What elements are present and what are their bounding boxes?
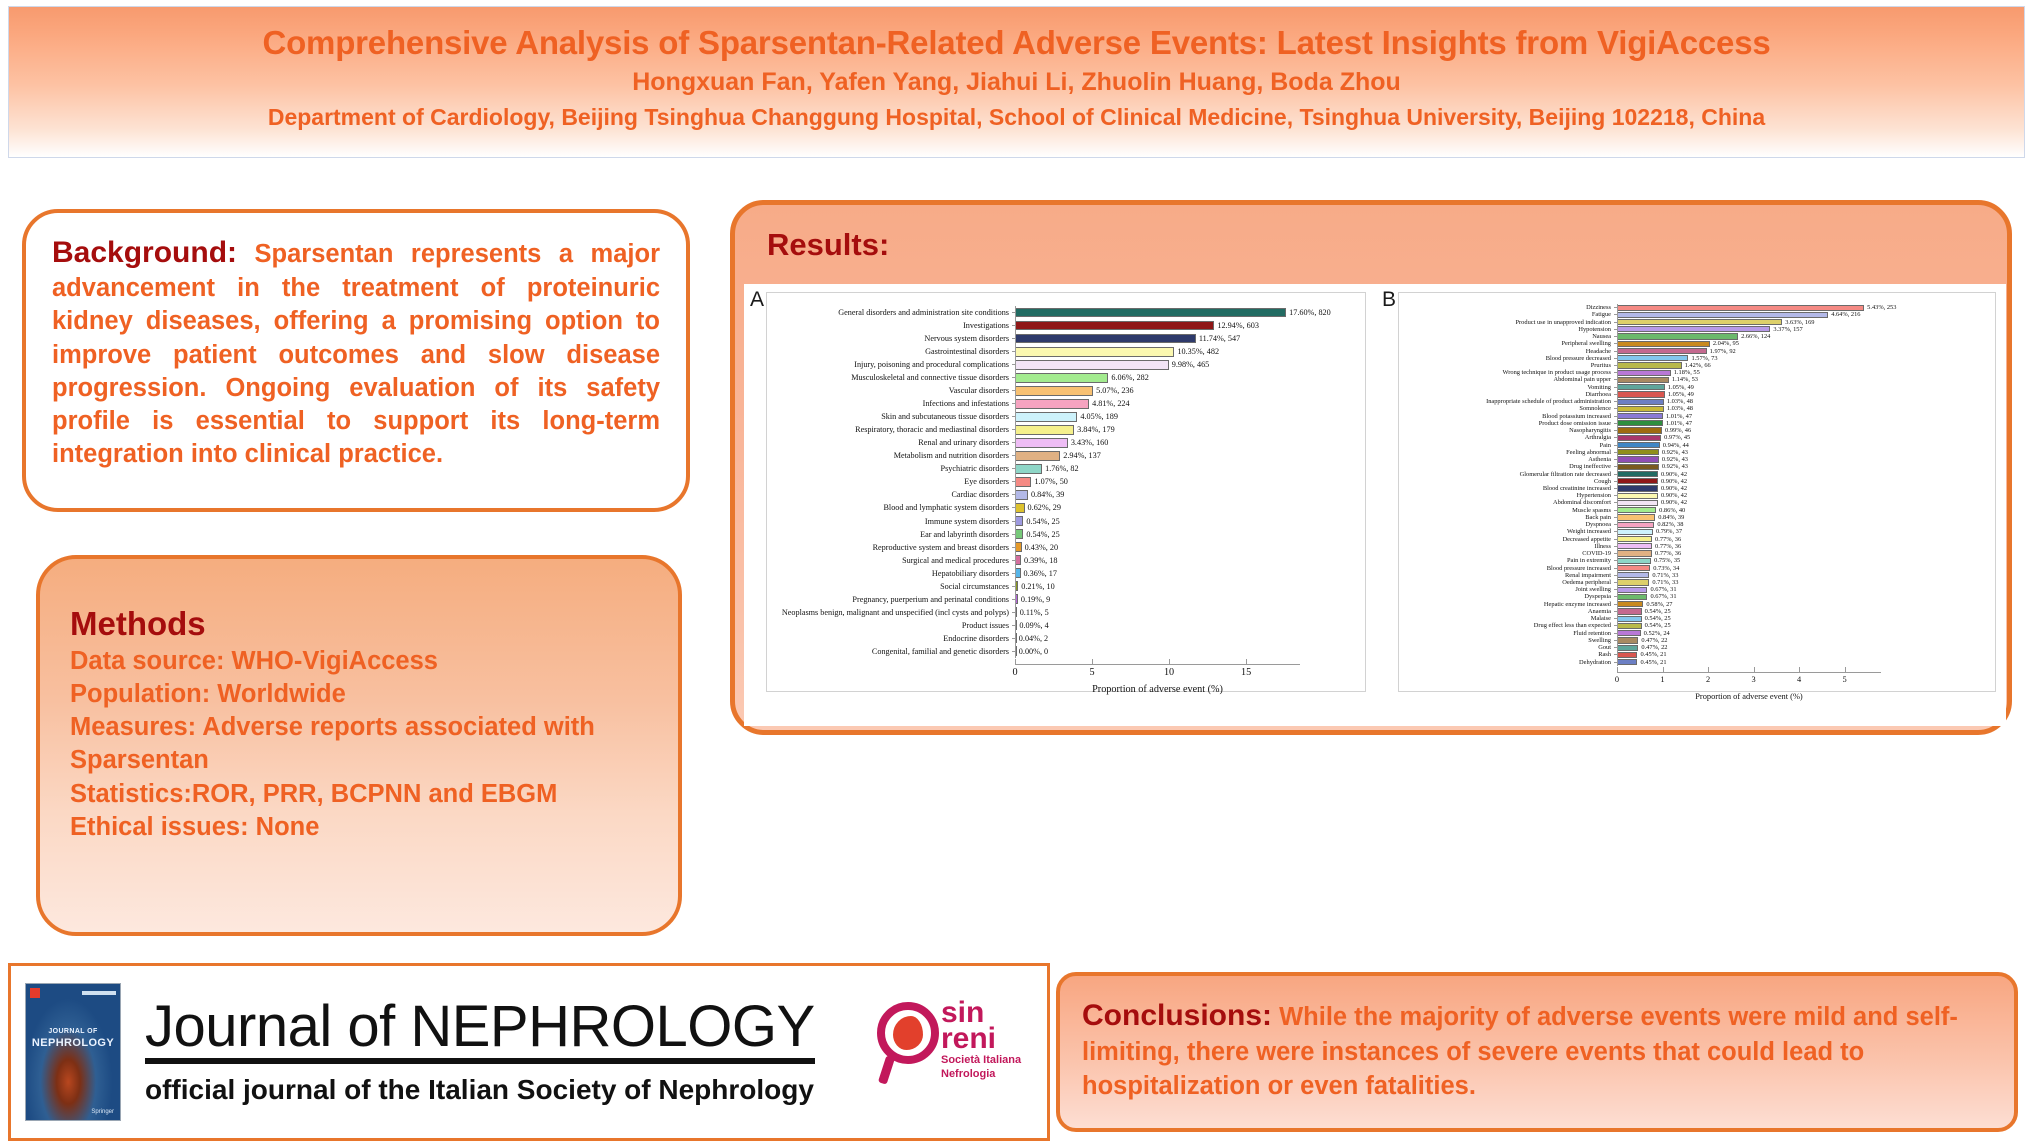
bar-holder <box>1617 579 1649 585</box>
journal-footer: JOURNAL OF NEPHROLOGY Springer Journal o… <box>8 963 1050 1141</box>
bar-category-label: Oedema peripheral <box>1376 579 1614 586</box>
bar-holder <box>1617 514 1655 520</box>
bar-holder <box>1617 623 1642 629</box>
bar-row: Pruritus1.42%, 66 <box>1376 362 2006 369</box>
methods-line: Data source: WHO-VigiAccess <box>70 645 658 678</box>
x-axis-title-b: Proportion of adverse event (%) <box>1617 692 1881 701</box>
x-tick-label: 5 <box>1089 667 1094 678</box>
bar-row: Blood creatinine increased0.90%, 42 <box>1376 485 2006 492</box>
bar-value-label: 17.60%, 820 <box>1286 308 1331 317</box>
methods-line: Sparsentan <box>70 744 658 777</box>
bar-category-label: Infections and infestations <box>744 399 1012 408</box>
bar-value-label: 3.43%, 160 <box>1068 438 1109 447</box>
x-tick-label: 4 <box>1797 675 1801 684</box>
bar-holder <box>1617 550 1652 556</box>
bar-holder <box>1617 362 1682 368</box>
bar-category-label: Illness <box>1376 543 1614 550</box>
bar-category-label: Pain <box>1376 442 1614 449</box>
bar <box>1617 399 1664 405</box>
cover-bar <box>82 991 116 995</box>
x-tick <box>1246 659 1247 664</box>
bar-value-label: 0.43%, 20 <box>1022 543 1058 552</box>
x-tick <box>1617 667 1618 672</box>
bar-category-label: Fluid retention <box>1376 630 1614 637</box>
bar-row: Surgical and medical procedures0.39%, 18 <box>744 554 1376 567</box>
bar-category-label: Wrong technique in product usage process <box>1376 369 1614 376</box>
bar-value-label: 0.45%, 21 <box>1637 651 1666 658</box>
sin-logo-reni: reni <box>941 1024 996 1054</box>
cover-publisher-mark <box>30 988 40 998</box>
bar-holder <box>1617 608 1642 614</box>
bar-row: Blood potassium increased1.01%, 47 <box>1376 413 2006 420</box>
author-list: Hongxuan Fan, Yafen Yang, Jiahui Li, Zhu… <box>632 68 1401 97</box>
bar-row: Renal impairment0.71%, 33 <box>1376 572 2006 579</box>
bar-value-label: 0.45%, 21 <box>1637 659 1666 666</box>
bar-holder <box>1617 391 1665 397</box>
bar <box>1617 522 1654 528</box>
x-tick-label: 5 <box>1842 675 1846 684</box>
bar-holder <box>1015 347 1174 357</box>
bar-value-label: 1.57%, 73 <box>1688 355 1717 362</box>
bar-value-label: 9.98%, 465 <box>1169 360 1210 369</box>
bar <box>1015 438 1068 448</box>
bar-holder <box>1617 377 1669 383</box>
bar-holder <box>1617 456 1659 462</box>
bar <box>1617 659 1637 665</box>
bar-row: Renal and urinary disorders3.43%, 160 <box>744 436 1376 449</box>
bar-holder <box>1617 326 1770 332</box>
bar-value-label: 2.94%, 137 <box>1060 451 1101 460</box>
bar-value-label: 1.76%, 82 <box>1042 464 1078 473</box>
bar-category-label: COVID-19 <box>1376 550 1614 557</box>
bar <box>1015 386 1093 396</box>
bar <box>1015 399 1089 409</box>
bar <box>1617 464 1659 470</box>
bar <box>1015 334 1196 344</box>
x-axis-title-a: Proportion of adverse event (%) <box>1015 684 1300 695</box>
bar-row: Peripheral swelling2.04%, 95 <box>1376 340 2006 347</box>
bar-holder <box>1015 464 1042 474</box>
cover-title: JOURNAL OF NEPHROLOGY <box>26 1028 120 1051</box>
bar-holder <box>1617 601 1643 607</box>
bar-category-label: Joint swelling <box>1376 586 1614 593</box>
bar-category-label: Reproductive system and breast disorders <box>744 543 1012 552</box>
bar-category-label: Fatigue <box>1376 311 1614 318</box>
bar-row: Oedema peripheral0.71%, 33 <box>1376 579 2006 586</box>
bar <box>1617 377 1669 383</box>
bar-holder <box>1015 451 1060 461</box>
cover-title-big: NEPHROLOGY <box>26 1037 120 1051</box>
bar-holder <box>1617 507 1656 513</box>
bar-row: Social circumstances0.21%, 10 <box>744 580 1376 593</box>
bar-holder <box>1015 477 1031 487</box>
bar-category-label: Renal and urinary disorders <box>744 438 1012 447</box>
bar-row: Vascular disorders5.07%, 236 <box>744 384 1376 397</box>
poster-header: Comprehensive Analysis of Sparsentan-Rel… <box>8 6 2025 158</box>
bar-row: Product dose omission issue1.01%, 47 <box>1376 420 2006 427</box>
bar <box>1617 456 1659 462</box>
bar <box>1617 485 1658 491</box>
bar-category-label: Immune system disorders <box>744 517 1012 526</box>
bar-holder <box>1617 558 1651 564</box>
bar-holder <box>1617 348 1707 354</box>
bar-value-label: 3.63%, 169 <box>1782 319 1814 326</box>
bar-category-label: Blood pressure increased <box>1376 565 1614 572</box>
bar-value-label: 4.81%, 224 <box>1089 399 1130 408</box>
bar-category-label: Pain in extremity <box>1376 557 1614 564</box>
bar-holder <box>1617 312 1828 318</box>
bar <box>1617 601 1643 607</box>
bar-holder <box>1015 373 1108 383</box>
x-tick <box>1799 667 1800 672</box>
bar-value-label: 0.71%, 33 <box>1649 579 1678 586</box>
bar <box>1617 572 1649 578</box>
bar-holder <box>1617 587 1647 593</box>
bar-row: General disorders and administration sit… <box>744 306 1376 319</box>
bar-category-label: Blood creatinine increased <box>1376 485 1614 492</box>
bar-holder <box>1617 478 1658 484</box>
bar-value-label: 0.67%, 31 <box>1647 593 1676 600</box>
bar-category-label: Dyspepsia <box>1376 593 1614 600</box>
bar <box>1015 321 1214 331</box>
x-tick-label: 15 <box>1241 667 1251 678</box>
bar-value-label: 0.82%, 38 <box>1654 521 1683 528</box>
bar-category-label: Product dose omission issue <box>1376 420 1614 427</box>
bar-row: Muscle spasms0.86%, 40 <box>1376 507 2006 514</box>
bar-value-label: 4.64%, 216 <box>1828 311 1860 318</box>
bar <box>1617 652 1637 658</box>
bar-holder <box>1617 449 1659 455</box>
bar-value-label: 1.07%, 50 <box>1031 477 1067 486</box>
bar <box>1015 412 1077 422</box>
bar <box>1015 516 1023 526</box>
methods-line: Statistics:ROR, PRR, BCPNN and EBGM <box>70 778 658 811</box>
bar <box>1617 543 1652 549</box>
x-tick <box>1663 667 1664 672</box>
bar-value-label: 4.05%, 189 <box>1077 412 1118 421</box>
bar-row: Product use in unapproved indication3.63… <box>1376 318 2006 325</box>
bar-category-label: Hypertension <box>1376 492 1614 499</box>
bar-category-label: Neoplasms benign, malignant and unspecif… <box>744 608 1012 617</box>
bar-value-label: 0.47%, 22 <box>1638 637 1667 644</box>
bar-category-label: Hepatic enzyme increased <box>1376 601 1614 608</box>
methods-section: Methods Data source: WHO-VigiAccessPopul… <box>36 555 682 936</box>
bar-row-list-b: Dizziness5.43%, 253Fatigue4.64%, 216Prod… <box>1376 304 2006 666</box>
bar <box>1015 347 1174 357</box>
bar <box>1617 341 1710 347</box>
bar-value-label: 0.11%, 5 <box>1017 608 1049 617</box>
bar-value-label: 0.21%, 10 <box>1018 582 1054 591</box>
bar-value-label: 1.05%, 49 <box>1665 384 1694 391</box>
bar-category-label: Metabolism and nutrition disorders <box>744 451 1012 460</box>
bar <box>1617 579 1649 585</box>
conclusions-section: Conclusions: While the majority of adver… <box>1056 972 2018 1132</box>
bar-category-label: Rash <box>1376 651 1614 658</box>
bar-category-label: Dizziness <box>1376 304 1614 311</box>
bar-category-label: Nasopharyngitis <box>1376 427 1614 434</box>
bar <box>1015 373 1108 383</box>
bar-value-label: 0.54%, 25 <box>1642 608 1671 615</box>
bar-holder <box>1015 529 1023 539</box>
bar-row: Wrong technique in product usage process… <box>1376 369 2006 376</box>
y-axis-spine-a <box>1015 306 1016 658</box>
bar-category-label: Hypotension <box>1376 326 1614 333</box>
bar-row: Hepatic enzyme increased0.58%, 27 <box>1376 601 2006 608</box>
bar-holder <box>1617 464 1659 470</box>
bar-category-label: Blood pressure decreased <box>1376 355 1614 362</box>
bar-holder <box>1015 308 1286 318</box>
bar-category-label: Nausea <box>1376 333 1614 340</box>
bar-row: Immune system disorders0.54%, 25 <box>744 515 1376 528</box>
bar-value-label: 1.18%, 55 <box>1671 369 1700 376</box>
magnifier-handle-icon <box>878 1055 895 1084</box>
bar-row: Feeling abnormal0.92%, 43 <box>1376 449 2006 456</box>
bar-category-label: Renal impairment <box>1376 572 1614 579</box>
bar-category-label: Hepatobiliary disorders <box>744 569 1012 578</box>
bar-holder <box>1617 500 1658 506</box>
bar-holder <box>1015 360 1169 370</box>
bar-row: Pregnancy, puerperium and perinatal cond… <box>744 593 1376 606</box>
bar-value-label: 0.90%, 42 <box>1658 499 1687 506</box>
bar-holder <box>1617 536 1652 542</box>
sin-society-logo: sin reni Società Italiana Nefrologia <box>875 994 1025 1110</box>
bar-holder <box>1617 319 1782 325</box>
bar-value-label: 0.04%, 2 <box>1016 634 1048 643</box>
journal-name: Journal of NEPHROLOGY <box>145 998 815 1064</box>
bar-holder <box>1617 420 1663 426</box>
bar-row: Pain in extremity0.75%, 35 <box>1376 557 2006 564</box>
bar-value-label: 0.77%, 36 <box>1652 543 1681 550</box>
bar-category-label: Product use in unapproved indication <box>1376 319 1614 326</box>
bar-row: Anaemia0.54%, 25 <box>1376 608 2006 615</box>
bar <box>1617 514 1655 520</box>
bar-value-label: 0.90%, 42 <box>1658 485 1687 492</box>
x-tick-label: 0 <box>1615 675 1619 684</box>
bar-holder <box>1015 425 1074 435</box>
bar-value-label: 2.04%, 95 <box>1710 340 1739 347</box>
bar <box>1617 333 1738 339</box>
bar-holder <box>1015 399 1089 409</box>
bar-holder <box>1617 543 1652 549</box>
bar-value-label: 0.84%, 39 <box>1655 514 1684 521</box>
bar-category-label: Swelling <box>1376 637 1614 644</box>
bar-category-label: Abdominal discomfort <box>1376 499 1614 506</box>
bar-category-label: Weight increased <box>1376 528 1614 535</box>
bar <box>1015 464 1042 474</box>
bar <box>1617 348 1707 354</box>
bar <box>1617 587 1647 593</box>
bar-category-label: Musculoskeletal and connective tissue di… <box>744 373 1012 382</box>
bar-value-label: 0.54%, 25 <box>1023 530 1059 539</box>
bar <box>1015 529 1023 539</box>
bar <box>1617 594 1647 600</box>
bar <box>1617 355 1688 361</box>
bar <box>1617 326 1770 332</box>
bar-row: Hepatobiliary disorders0.36%, 17 <box>744 567 1376 580</box>
bar-holder <box>1617 485 1658 491</box>
bar <box>1617 319 1782 325</box>
x-tick-label: 0 <box>1012 667 1017 678</box>
bar-value-label: 0.86%, 40 <box>1656 507 1685 514</box>
bar-row: Nervous system disorders11.74%, 547 <box>744 332 1376 345</box>
background-text: Background: Sparsentan represents a majo… <box>52 233 660 472</box>
background-section: Background: Sparsentan represents a majo… <box>22 209 690 512</box>
bar-value-label: 0.73%, 34 <box>1650 565 1679 572</box>
bar <box>1617 442 1660 448</box>
bar-holder <box>1015 503 1025 513</box>
bar-holder <box>1617 399 1664 405</box>
bar-row: Diarrhoea1.05%, 49 <box>1376 391 2006 398</box>
methods-line: Measures: Adverse reports associated wit… <box>70 711 658 744</box>
bar-row: Infections and infestations4.81%, 224 <box>744 397 1376 410</box>
bar <box>1617 384 1665 390</box>
bar-value-label: 1.01%, 47 <box>1663 413 1692 420</box>
bar <box>1617 500 1658 506</box>
bar-row: Gout0.47%, 22 <box>1376 644 2006 651</box>
bar-value-label: 1.03%, 48 <box>1664 405 1693 412</box>
bar <box>1015 425 1074 435</box>
bar-category-label: Gout <box>1376 644 1614 651</box>
bar-row: Endocrine disorders0.04%, 2 <box>744 632 1376 645</box>
bar <box>1617 558 1651 564</box>
bar-value-label: 1.05%, 49 <box>1665 391 1694 398</box>
bar-category-label: Somnolence <box>1376 405 1614 412</box>
bar <box>1015 490 1028 500</box>
bar-value-label: 0.19%, 9 <box>1018 595 1050 604</box>
bar-row: Ear and labyrinth disorders0.54%, 25 <box>744 528 1376 541</box>
bar-holder <box>1015 412 1077 422</box>
y-axis-spine-b <box>1617 304 1618 666</box>
bar-value-label: 1.97%, 92 <box>1707 348 1736 355</box>
bar-holder <box>1015 490 1028 500</box>
bar-value-label: 1.01%, 47 <box>1663 420 1692 427</box>
conclusions-text: Conclusions: While the majority of adver… <box>1082 996 1992 1104</box>
bar-value-label: 0.75%, 35 <box>1651 557 1680 564</box>
bar-holder <box>1617 659 1637 665</box>
poster-canvas: Comprehensive Analysis of Sparsentan-Rel… <box>0 0 2033 1147</box>
bar-row: Malaise0.54%, 25 <box>1376 615 2006 622</box>
bar-row: Illness0.77%, 36 <box>1376 543 2006 550</box>
bar-category-label: Muscle spasms <box>1376 507 1614 514</box>
bar <box>1617 406 1664 412</box>
bar-category-label: Nervous system disorders <box>744 334 1012 343</box>
bar-holder <box>1617 630 1641 636</box>
bar-value-label: 0.54%, 25 <box>1023 517 1059 526</box>
bar-row: Metabolism and nutrition disorders2.94%,… <box>744 449 1376 462</box>
bar-value-label: 0.54%, 25 <box>1642 615 1671 622</box>
bar-holder <box>1617 442 1660 448</box>
methods-line-list: Data source: WHO-VigiAccessPopulation: W… <box>70 645 658 844</box>
bar-holder <box>1617 427 1662 433</box>
bar <box>1617 471 1658 477</box>
bar-category-label: Dyspnoea <box>1376 521 1614 528</box>
bar-value-label: 0.47%, 22 <box>1638 644 1667 651</box>
bar-row: Abdominal pain upper1.14%, 53 <box>1376 376 2006 383</box>
cover-title-small: JOURNAL OF <box>48 1028 97 1035</box>
bar-row: Vomiting1.05%, 49 <box>1376 384 2006 391</box>
bar <box>1617 413 1663 419</box>
bar-row: Nausea2.66%, 124 <box>1376 333 2006 340</box>
bar-category-label: Arthralgia <box>1376 434 1614 441</box>
bar-row: Somnolence1.03%, 48 <box>1376 405 2006 412</box>
bar-category-label: Malaise <box>1376 615 1614 622</box>
chart-panel-b: B Dizziness5.43%, 253Fatigue4.64%, 216Pr… <box>1376 284 2006 726</box>
x-tick <box>1845 667 1846 672</box>
bar-category-label: Abdominal pain upper <box>1376 376 1614 383</box>
bar-category-label: Vomiting <box>1376 384 1614 391</box>
bar-value-label: 0.36%, 17 <box>1021 569 1057 578</box>
bar-row: Hypotension3.37%, 157 <box>1376 326 2006 333</box>
bar-category-label: Glomerular filtration rate decreased <box>1376 471 1614 478</box>
bar-row-list-a: General disorders and administration sit… <box>744 306 1376 658</box>
bar-category-label: General disorders and administration sit… <box>744 308 1012 317</box>
sin-logo-line1: Società Italiana <box>941 1054 1021 1068</box>
bar-holder <box>1617 370 1671 376</box>
bar-row: Blood and lymphatic system disorders0.62… <box>744 501 1376 514</box>
bar-row: Decreased appetite0.77%, 36 <box>1376 536 2006 543</box>
bar-value-label: 0.67%, 31 <box>1647 586 1676 593</box>
bar <box>1617 312 1828 318</box>
bar <box>1617 507 1656 513</box>
methods-heading: Methods <box>70 605 658 643</box>
bar-category-label: Surgical and medical procedures <box>744 556 1012 565</box>
bar-holder <box>1617 355 1688 361</box>
bar-row: Asthenia0.92%, 43 <box>1376 456 2006 463</box>
bar <box>1617 449 1659 455</box>
bar <box>1617 478 1658 484</box>
bar-holder <box>1617 565 1650 571</box>
bar-row: Injury, poisoning and procedural complic… <box>744 358 1376 371</box>
bar-row: Cardiac disorders0.84%, 39 <box>744 488 1376 501</box>
bar-category-label: Social circumstances <box>744 582 1012 591</box>
x-tick <box>1015 659 1016 664</box>
bar <box>1617 565 1650 571</box>
bar-row: Blood pressure increased0.73%, 34 <box>1376 564 2006 571</box>
bar-holder <box>1617 493 1658 499</box>
bar-value-label: 0.79%, 37 <box>1653 528 1682 535</box>
bar-category-label: Inappropriate schedule of product admini… <box>1376 398 1614 405</box>
bar-holder <box>1617 406 1664 412</box>
bar-row: Dizziness5.43%, 253 <box>1376 304 2006 311</box>
bar-row: Fluid retention0.52%, 24 <box>1376 630 2006 637</box>
bar-value-label: 5.43%, 253 <box>1864 304 1896 311</box>
x-tick-label: 2 <box>1706 675 1710 684</box>
x-tick <box>1169 659 1170 664</box>
bar-category-label: Ear and labyrinth disorders <box>744 530 1012 539</box>
bar-row: Weight increased0.79%, 37 <box>1376 528 2006 535</box>
bar-value-label: 1.14%, 53 <box>1669 376 1698 383</box>
bar-category-label: Drug effect less than expected <box>1376 622 1614 629</box>
bar-holder <box>1015 321 1214 331</box>
bar-holder <box>1617 529 1653 535</box>
x-tick <box>1754 667 1755 672</box>
bar-category-label: Congenital, familial and genetic disorde… <box>744 647 1012 656</box>
bar-row: Musculoskeletal and connective tissue di… <box>744 371 1376 384</box>
bar-holder <box>1617 413 1663 419</box>
bar-value-label: 0.92%, 43 <box>1659 456 1688 463</box>
page-title: Comprehensive Analysis of Sparsentan-Rel… <box>262 25 1770 62</box>
bar-category-label: Cough <box>1376 478 1614 485</box>
bar <box>1617 427 1662 433</box>
bar-category-label: Eye disorders <box>744 477 1012 486</box>
bar-category-label: Gastrointestinal disorders <box>744 347 1012 356</box>
bar-value-label: 0.77%, 36 <box>1652 536 1681 543</box>
bar <box>1617 529 1653 535</box>
bar-category-label: Pruritus <box>1376 362 1614 369</box>
bar-category-label: Anaemia <box>1376 608 1614 615</box>
bar-value-label: 0.94%, 44 <box>1660 442 1689 449</box>
bar-category-label: Endocrine disorders <box>744 634 1012 643</box>
